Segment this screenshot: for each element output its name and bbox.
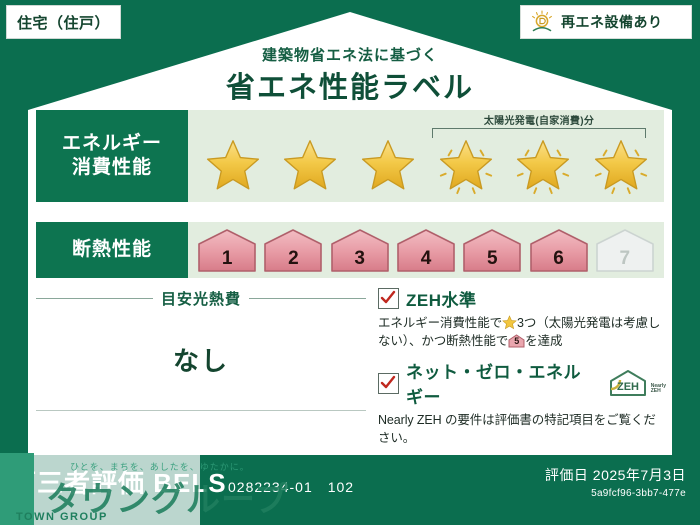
star-base	[357, 135, 419, 195]
certificate-code: 0282234-01 102	[228, 477, 354, 497]
star-solar	[512, 135, 574, 195]
insulation-badge-3: 3	[329, 227, 391, 273]
insulation-badge-7: 7	[594, 227, 656, 273]
utility-cost-value: なし	[36, 341, 366, 378]
cost-rule-right	[249, 298, 366, 299]
star-solar	[435, 135, 497, 195]
energy-performance-key: エネルギー 消費性能	[36, 110, 188, 202]
insulation-badge-2: 2	[262, 227, 324, 273]
evaluation-date: 評価日 2025年7月3日	[545, 465, 686, 485]
svg-text:ZEH: ZEH	[617, 381, 639, 393]
insulation-performance-key: 断熱性能	[36, 222, 188, 278]
zeh-logo-sub2: ZEH	[651, 388, 661, 394]
renewable-energy-badge: 再エネ設備あり	[520, 5, 692, 39]
zeh-netzero-title: ネット・ゼロ・エネルギー	[406, 358, 596, 408]
energy-performance-row: エネルギー 消費性能 太陽光発電(自家消費)分	[36, 110, 664, 202]
insulation-badge-number: 1	[196, 248, 258, 270]
energy-performance-label: 住宅（住戸） 再エネ設備あり 建築物省エネ法に基づく 省エネ性能ラベル	[0, 0, 700, 525]
third-party-eval: 第三者評価 BELS	[10, 463, 227, 500]
label-footer: 第三者評価 BELS 0282234-01 102 評価日 2025年7月3日 …	[0, 455, 700, 525]
evaluation-info: 評価日 2025年7月3日 5a9fcf96-3bb7-477e	[545, 465, 686, 499]
cost-rule-left	[36, 298, 153, 299]
zeh-standard-description: エネルギー消費性能で3つ（太陽光発電は考慮しない）、かつ断熱性能で5を達成	[378, 314, 666, 350]
insulation-badge-number: 2	[262, 248, 324, 270]
zeh-panel: ZEH水準 エネルギー消費性能で3つ（太陽光発電は考慮しない）、かつ断熱性能で5…	[378, 286, 666, 448]
checkbox-zeh-netzero[interactable]	[378, 373, 399, 394]
zeh-netzero-title-row: ネット・ゼロ・エネルギー ZEH Nearly ZEH	[378, 358, 666, 408]
insulation-badge-6: 6	[528, 227, 590, 273]
label-subtitle: 建築物省エネ法に基づく	[0, 44, 700, 65]
insulation-badge-5: 5	[461, 227, 523, 273]
utility-cost-label: 目安光熱費	[161, 288, 241, 309]
utility-cost-heading: 目安光熱費	[36, 288, 366, 309]
zeh-item-standard: ZEH水準 エネルギー消費性能で3つ（太陽光発電は考慮しない）、かつ断熱性能で5…	[378, 286, 666, 350]
evaluation-date-label: 評価日	[545, 467, 589, 483]
third-party-eval-label: 第三者評価 BELS	[10, 463, 227, 500]
insulation-performance-value: 1 2 3	[188, 222, 664, 278]
energy-performance-value: 太陽光発電(自家消費)分	[188, 110, 664, 202]
insulation-badge-number: 7	[594, 248, 656, 270]
star-base	[202, 135, 264, 195]
star-solar	[590, 135, 652, 195]
inline-star-icon	[502, 315, 517, 330]
zeh-netzero-description: Nearly ZEH の要件は評価書の特記項目をご覧ください。	[378, 411, 666, 447]
renewable-badge-label: 再エネ設備あり	[561, 12, 663, 32]
check-icon	[380, 375, 396, 391]
solar-sun-icon	[529, 10, 555, 34]
insulation-level-badges: 1 2 3	[188, 222, 664, 278]
energy-key-line2: 消費性能	[72, 156, 152, 180]
insulation-performance-row: 断熱性能 1 2	[36, 222, 664, 278]
energy-key-line1: エネルギー	[62, 132, 162, 156]
energy-star-rating	[194, 132, 660, 198]
zeh-item-netzero: ネット・ゼロ・エネルギー ZEH Nearly ZEH Nearly ZEH の…	[378, 358, 666, 447]
solar-bracket-label: 太陽光発電(自家消費)分	[428, 112, 650, 127]
zeh-desc-part-a: エネルギー消費性能で	[378, 316, 502, 330]
category-tag: 住宅（住戸）	[6, 5, 121, 39]
zeh-standard-title-row: ZEH水準	[378, 286, 666, 311]
insulation-key-label: 断熱性能	[72, 238, 152, 262]
insulation-badge-4: 4	[395, 227, 457, 273]
zeh-logo-subtext: Nearly ZEH	[651, 384, 666, 398]
utility-cost-block: 目安光熱費 なし	[36, 288, 366, 448]
insulation-badge-number: 6	[528, 248, 590, 270]
insulation-badge-number: 3	[329, 248, 391, 270]
zeh-standard-title: ZEH水準	[406, 286, 477, 311]
inline-insulation-level-badge: 5	[508, 334, 525, 348]
label-title: 省エネ性能ラベル	[0, 64, 700, 106]
inline-level-number: 5	[508, 335, 525, 348]
utility-cost-divider	[36, 410, 366, 411]
evaluation-date-value: 2025年7月3日	[593, 467, 686, 483]
check-icon	[380, 290, 396, 306]
checkbox-zeh-standard[interactable]	[378, 288, 399, 309]
zeh-house-logo: ZEH Nearly ZEH	[607, 369, 666, 397]
insulation-badge-1: 1	[196, 227, 258, 273]
insulation-badge-number: 5	[461, 248, 523, 270]
zeh-desc-part-c: を達成	[525, 334, 562, 348]
evaluation-hash: 5a9fcf96-3bb7-477e	[545, 488, 686, 499]
insulation-badge-number: 4	[395, 248, 457, 270]
star-base	[279, 135, 341, 195]
